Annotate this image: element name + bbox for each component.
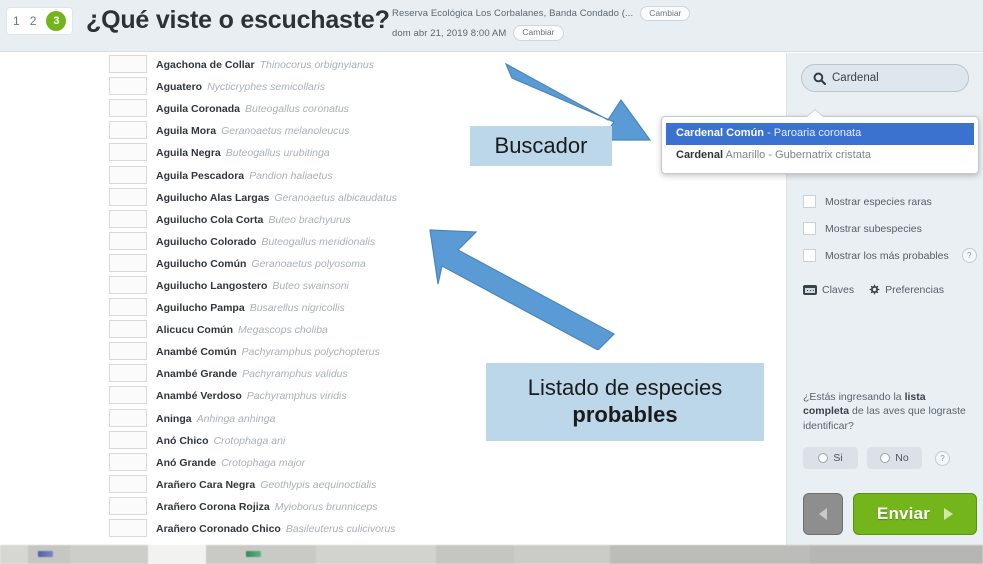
annotation-label-listado: Listado de especies probables [486, 363, 764, 441]
ebird-checklist-screen: 1 2 3 ¿Qué viste o escuchaste? Reserva E… [0, 0, 983, 564]
species-count-input[interactable] [109, 188, 147, 206]
species-scientific-name: Geothlypis aequinoctialis [260, 479, 376, 491]
species-names: Arañero Corona RojizaMyioborus brunnicep… [156, 498, 378, 514]
radio-no[interactable] [880, 453, 890, 463]
species-row[interactable]: Aguilucho LangosteroButeo swainsoni [0, 274, 786, 296]
species-scientific-name: Megascops choliba [238, 324, 328, 336]
taskbar-icon-1 [246, 551, 261, 557]
answer-no-label: No [895, 452, 908, 464]
species-scientific-name: Buteo swainsoni [272, 280, 348, 292]
species-count-input[interactable] [109, 55, 147, 73]
species-row[interactable]: Arañero Corona RojizaMyioborus brunnicep… [0, 495, 786, 517]
back-button[interactable] [803, 493, 843, 535]
species-names: Aguila NegraButeogallus urubitinga [156, 144, 330, 160]
species-scientific-name: Pachyramphus viridis [247, 390, 347, 402]
search-icon [813, 72, 826, 85]
species-common-name: Anó Grande [156, 457, 216, 469]
suggestion-0-bold: Cardenal Común [676, 127, 764, 139]
checkbox-show-likely[interactable] [803, 249, 816, 262]
species-common-name: Anambé Verdoso [156, 390, 242, 402]
send-button[interactable]: Enviar [853, 493, 977, 535]
species-count-input[interactable] [109, 453, 147, 471]
species-count-input[interactable] [109, 276, 147, 294]
search-input[interactable]: Cardenal [801, 64, 969, 92]
species-names: Anambé GrandePachyramphus validus [156, 365, 348, 381]
option-show-rare[interactable]: Mostrar especies raras [803, 188, 979, 215]
species-scientific-name: Geranoaetus polyosoma [251, 258, 365, 270]
tool-label-claves: Claves [822, 284, 854, 296]
species-common-name: Arañero Coronado Chico [156, 523, 281, 535]
os-taskbar[interactable] [0, 545, 983, 564]
species-count-input[interactable] [109, 232, 147, 250]
species-scientific-name: Thinocorus orbignyianus [260, 59, 374, 71]
species-count-input[interactable] [109, 210, 147, 228]
taskbar-item-0[interactable] [0, 545, 29, 564]
species-common-name: Anó Chico [156, 435, 209, 447]
species-count-input[interactable] [109, 386, 147, 404]
radio-yes[interactable] [818, 453, 828, 463]
chevron-right-icon [944, 508, 953, 520]
step-2[interactable]: 2 [30, 8, 37, 34]
species-count-input[interactable] [109, 320, 147, 338]
option-show-subspecies[interactable]: Mostrar subespecies [803, 215, 979, 242]
species-common-name: Aguilucho Colorado [156, 236, 256, 248]
species-scientific-name: Geranoaetus melanoleucus [221, 125, 349, 137]
species-names: Aguila CoronadaButeogallus coronatus [156, 100, 349, 116]
tool-label-preferencias: Preferencias [885, 284, 944, 296]
species-common-name: Anambé Grande [156, 368, 237, 380]
species-common-name: Aguilucho Cola Corta [156, 214, 263, 226]
species-scientific-name: Buteogallus urubitinga [226, 147, 330, 159]
species-count-input[interactable] [109, 364, 147, 382]
species-common-name: Arañero Cara Negra [156, 479, 255, 491]
species-row[interactable]: Arañero Cara NegraGeothlypis aequinoctia… [0, 473, 786, 495]
suggestion-item-1[interactable]: Cardenal Amarillo - Gubernatrix cristata [666, 145, 974, 167]
page-header: 1 2 3 ¿Qué viste o escuchaste? Reserva E… [0, 0, 983, 52]
species-names: Anó ChicoCrotophaga ani [156, 432, 285, 448]
datetime-text: dom abr 21, 2019 8:00 AM [392, 28, 506, 39]
species-row[interactable]: Aguilucho PampaBusarellus nigricollis [0, 296, 786, 318]
change-datetime-button[interactable]: Cambiar [513, 25, 563, 40]
annotation-listado-line-0: Listado de especies [528, 375, 722, 402]
species-scientific-name: Buteo brachyurus [268, 214, 350, 226]
species-scientific-name: Nycticryphes semicollaris [207, 81, 325, 93]
species-count-input[interactable] [109, 342, 147, 360]
suggestion-0-rest: - Paroaria coronata [764, 127, 861, 139]
species-scientific-name: Anhinga anhinga [197, 413, 276, 425]
help-icon-show-likely[interactable]: ? [962, 248, 977, 263]
search-value: Cardenal [832, 72, 879, 84]
species-names: Aguila MoraGeranoaetus melanoleucus [156, 122, 350, 138]
step-indicator: 1 2 3 [6, 7, 73, 35]
species-scientific-name: Pandion haliaetus [249, 170, 332, 182]
species-scientific-name: Pachyramphus validus [242, 368, 348, 380]
species-common-name: Anambé Común [156, 346, 237, 358]
species-names: Aguilucho PampaBusarellus nigricollis [156, 299, 345, 315]
change-location-button[interactable]: Cambiar [640, 6, 690, 21]
annotation-buscador-line-0: Buscador [495, 133, 588, 160]
chevron-left-icon [819, 508, 827, 520]
species-common-name: Alicucu Común [156, 324, 233, 336]
answer-row: Si No ? [803, 447, 973, 469]
sidebar-footer-buttons: Enviar [803, 493, 977, 535]
location-row: Reserva Ecológica Los Corbalanes, Banda … [392, 6, 772, 21]
option-label-show-rare: Mostrar especies raras [825, 196, 932, 208]
species-row[interactable]: Alicucu ComúnMegascops choliba [0, 318, 786, 340]
species-count-input[interactable] [109, 166, 147, 184]
species-scientific-name: Geranoaetus albicaudatus [274, 192, 397, 204]
species-count-input[interactable] [109, 121, 147, 139]
annotation-arrow-to-species-list [402, 222, 622, 350]
dropdown-caret [807, 110, 823, 117]
gear-icon [868, 284, 880, 296]
species-scientific-name: Buteogallus coronatus [245, 103, 349, 115]
answer-no-button[interactable]: No [867, 447, 922, 469]
species-common-name: Aguilucho Pampa [156, 302, 245, 314]
taskbar-item-3[interactable] [148, 545, 207, 564]
datetime-row: dom abr 21, 2019 8:00 AM Cambiar [392, 25, 772, 40]
species-row[interactable]: Anó GrandeCrotophaga major [0, 451, 786, 473]
tool-preferencias[interactable]: Preferencias [868, 284, 944, 296]
sidebar-tools: Claves Preferencias [803, 284, 944, 296]
help-icon-question[interactable]: ? [935, 451, 950, 466]
species-scientific-name: Buteogallus meridionalis [261, 236, 375, 248]
species-count-input[interactable] [109, 431, 147, 449]
species-row[interactable]: Anambé ComúnPachyramphus polychopterus [0, 340, 786, 362]
species-names: AningaAnhinga anhinga [156, 410, 275, 426]
suggestion-1-bold: Cardenal [676, 149, 723, 161]
species-count-input[interactable] [109, 409, 147, 427]
step-3-active[interactable]: 3 [46, 11, 66, 31]
species-row[interactable]: Aguilucho Cola CortaButeo brachyurus [0, 208, 786, 230]
checkbox-show-subspecies[interactable] [803, 222, 816, 235]
species-common-name: Aguila Mora [156, 125, 216, 137]
question-text: ¿Estás ingresando la lista completa de l… [803, 390, 973, 433]
answer-yes-label: Si [833, 452, 842, 464]
species-common-name: Aguilucho Alas Largas [156, 192, 269, 204]
species-common-name: Aguilucho Langostero [156, 280, 267, 292]
species-names: Aguila PescadoraPandion haliaetus [156, 167, 333, 183]
species-count-input[interactable] [109, 497, 147, 515]
species-common-name: Aguilucho Común [156, 258, 246, 270]
species-names: Anó GrandeCrotophaga major [156, 454, 305, 470]
header-meta: Reserva Ecológica Los Corbalanes, Banda … [392, 6, 772, 45]
species-row[interactable]: Aguilucho Alas LargasGeranoaetus albicau… [0, 186, 786, 208]
species-common-name: Aguila Negra [156, 147, 221, 159]
species-common-name: Agachona de Collar [156, 59, 255, 71]
species-row[interactable]: Arañero Coronado ChicoBasileuterus culic… [0, 517, 786, 539]
taskbar-item-2[interactable] [70, 545, 149, 564]
display-options: Mostrar especies raras Mostrar subespeci… [803, 188, 979, 269]
right-sidebar: Cardenal Cardenal Común - Paroaria coron… [786, 53, 983, 545]
taskbar-item-5[interactable] [316, 545, 437, 564]
species-common-name: Aguila Pescadora [156, 170, 244, 182]
option-label-show-subspecies: Mostrar subespecies [825, 223, 922, 235]
species-names: Anambé VerdosoPachyramphus viridis [156, 387, 347, 403]
species-common-name: Aguatero [156, 81, 202, 93]
send-button-label: Enviar [877, 504, 930, 524]
annotation-label-buscador: Buscador [470, 126, 612, 166]
species-count-input[interactable] [109, 77, 147, 95]
species-scientific-name: Crotophaga major [221, 457, 305, 469]
annotation-listado-line-1: probables [572, 402, 677, 429]
species-names: Agachona de CollarThinocorus orbignyianu… [156, 56, 374, 72]
species-names: Arañero Cara NegraGeothlypis aequinoctia… [156, 476, 376, 492]
species-scientific-name: Myioborus brunniceps [275, 501, 378, 513]
location-text: Reserva Ecológica Los Corbalanes, Banda … [392, 8, 633, 19]
option-show-likely[interactable]: Mostrar los más probables ? [803, 242, 979, 269]
suggestion-item-0[interactable]: Cardenal Común - Paroaria coronata [666, 123, 974, 145]
species-row[interactable]: Agachona de CollarThinocorus orbignyianu… [0, 53, 786, 75]
search-suggestions-dropdown[interactable]: Cardenal Común - Paroaria coronata Carde… [661, 116, 979, 174]
taskbar-item-8[interactable] [610, 545, 811, 564]
species-names: Aguilucho Alas LargasGeranoaetus albicau… [156, 189, 397, 205]
question-part1: ¿Estás ingresando la [803, 391, 905, 403]
species-count-input[interactable] [109, 254, 147, 272]
species-row[interactable]: Aguilucho ComúnGeranoaetus polyosoma [0, 252, 786, 274]
species-count-input[interactable] [109, 99, 147, 117]
tool-claves[interactable]: Claves [803, 284, 854, 296]
species-names: Aguilucho LangosteroButeo swainsoni [156, 277, 349, 293]
checkbox-show-rare[interactable] [803, 195, 816, 208]
species-common-name: Aguila Coronada [156, 103, 240, 115]
species-scientific-name: Basileuterus culicivorus [286, 523, 396, 535]
species-names: Aguilucho ColoradoButeogallus meridional… [156, 233, 375, 249]
species-names: AguateroNycticryphes semicollaris [156, 78, 325, 94]
species-names: Anambé ComúnPachyramphus polychopterus [156, 343, 380, 359]
complete-list-question: ¿Estás ingresando la lista completa de l… [803, 390, 973, 469]
species-row[interactable]: Aguilucho ColoradoButeogallus meridional… [0, 230, 786, 252]
taskbar-item-6[interactable] [436, 545, 515, 564]
answer-yes-button[interactable]: Si [803, 447, 858, 469]
species-count-input[interactable] [109, 475, 147, 493]
suggestion-1-rest: Amarillo - Gubernatrix cristata [723, 149, 871, 161]
species-common-name: Arañero Corona Rojiza [156, 501, 270, 513]
species-names: Alicucu ComúnMegascops choliba [156, 321, 328, 337]
taskbar-item-7[interactable] [514, 545, 611, 564]
species-count-input[interactable] [109, 519, 147, 537]
species-count-input[interactable] [109, 143, 147, 161]
step-1[interactable]: 1 [13, 8, 20, 34]
species-common-name: Aninga [156, 413, 192, 425]
option-label-show-likely: Mostrar los más probables [825, 250, 949, 262]
species-scientific-name: Crotophaga ani [214, 435, 286, 447]
keyboard-icon [803, 285, 817, 295]
species-row[interactable]: AguateroNycticryphes semicollaris [0, 75, 786, 97]
taskbar-item-4[interactable] [206, 545, 317, 564]
taskbar-icon-0 [38, 551, 53, 557]
species-names: Aguilucho Cola CortaButeo brachyurus [156, 211, 351, 227]
species-scientific-name: Pachyramphus polychopterus [242, 346, 380, 358]
page-title: ¿Qué viste o escuchaste? [86, 6, 390, 35]
species-names: Aguilucho ComúnGeranoaetus polyosoma [156, 255, 366, 271]
taskbar-item-9[interactable] [810, 545, 983, 564]
species-scientific-name: Busarellus nigricollis [250, 302, 345, 314]
species-search: Cardenal Cardenal Común - Paroaria coron… [801, 64, 969, 92]
species-names: Arañero Coronado ChicoBasileuterus culic… [156, 520, 396, 536]
species-count-input[interactable] [109, 298, 147, 316]
